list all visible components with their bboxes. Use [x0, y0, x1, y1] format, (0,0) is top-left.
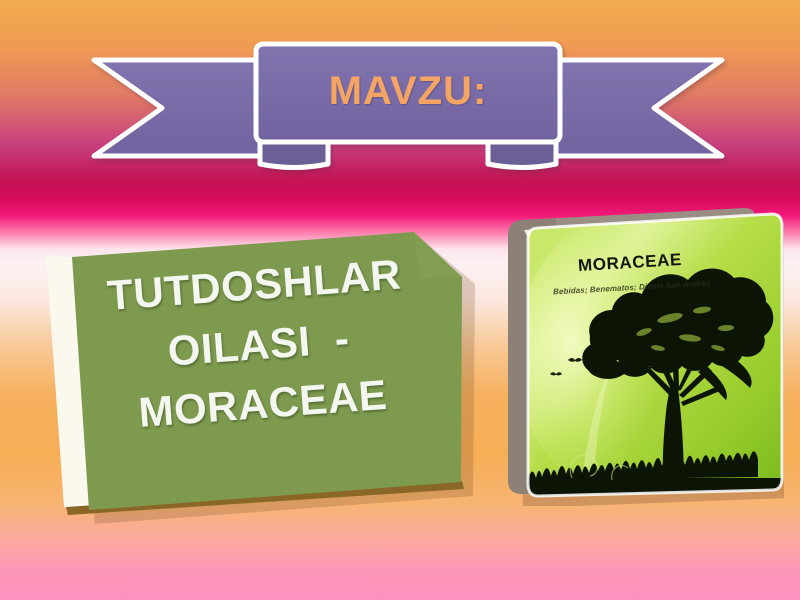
plaque-face [72, 232, 462, 510]
ribbon-right-tail [550, 60, 722, 156]
title-ribbon-banner [88, 38, 728, 170]
book-cover-image [494, 206, 784, 506]
plaque-bevel-corner [414, 232, 462, 279]
ribbon-left-tail [94, 60, 266, 156]
ribbon-center-panel [256, 44, 560, 142]
green-title-plaque [28, 215, 488, 535]
presentation-slide: MAVZU: TUTDOSHLAR OILASI - MORACEAE [0, 0, 800, 600]
book-cover-artwork [518, 210, 784, 502]
